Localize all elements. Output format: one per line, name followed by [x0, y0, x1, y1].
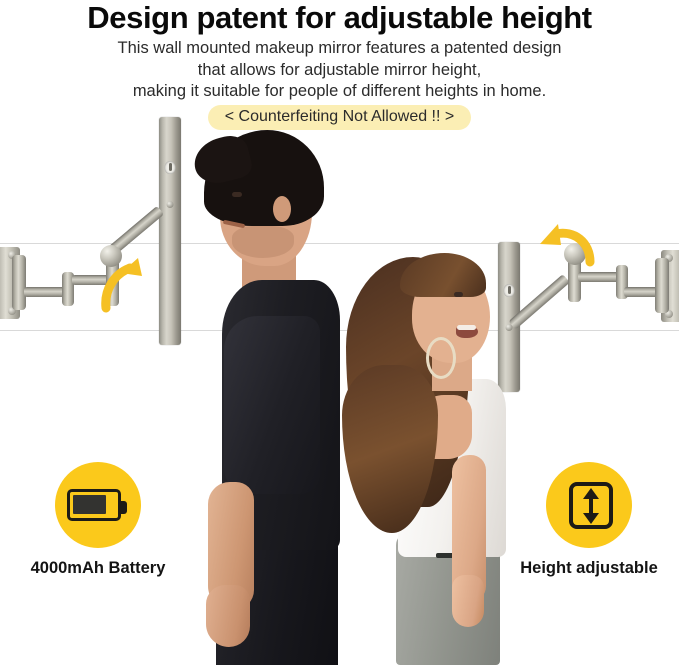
woman-hand — [452, 575, 484, 627]
battery-fill — [73, 495, 106, 514]
banner-wrap: < Counterfeiting Not Allowed !! > — [0, 105, 679, 130]
battery-icon — [67, 489, 121, 521]
hinge-cylinder-right — [655, 258, 669, 313]
badge-label-battery: 4000mAh Battery — [0, 558, 198, 578]
badge-circle — [55, 462, 141, 548]
counterfeit-warning-banner: < Counterfeiting Not Allowed !! > — [208, 105, 471, 130]
header-block: Design patent for adjustable height This… — [0, 0, 679, 130]
man-hand — [206, 585, 250, 647]
person-man — [180, 130, 360, 665]
arm-lower-segment-left — [24, 287, 66, 297]
badge-battery: 4000mAh Battery — [0, 462, 198, 578]
man-ear — [273, 196, 291, 222]
double-arrow-icon — [580, 486, 602, 526]
subtitle-line-1: This wall mounted makeup mirror features… — [0, 38, 679, 60]
man-sleeve — [224, 316, 320, 494]
man-jaw-shadow — [232, 226, 294, 258]
infographic-page: Design patent for adjustable height This… — [0, 0, 679, 665]
badge-circle — [546, 462, 632, 548]
badge-height: Height adjustable — [489, 462, 679, 578]
height-adjust-icon — [569, 482, 613, 529]
woman-teeth — [457, 325, 476, 330]
page-title: Design patent for adjustable height — [0, 0, 679, 35]
rail-screw — [167, 201, 174, 208]
battery-terminal — [121, 501, 127, 514]
woman-eye — [454, 292, 463, 297]
rail-keyhole — [165, 161, 176, 174]
subtitle-line-2: that allows for adjustable mirror height… — [0, 60, 679, 82]
subtitle-line-3: making it suitable for people of differe… — [0, 81, 679, 103]
wall-rail-left — [159, 117, 181, 345]
person-woman — [340, 245, 510, 665]
man-eye — [232, 192, 242, 197]
rotation-arrow-left — [98, 250, 154, 312]
hinge-cylinder-left — [12, 255, 26, 310]
woman-earring — [426, 337, 456, 379]
subtitle-block: This wall mounted makeup mirror features… — [0, 35, 679, 103]
rotation-arrow-right — [534, 222, 598, 268]
badge-label-height: Height adjustable — [489, 558, 679, 578]
